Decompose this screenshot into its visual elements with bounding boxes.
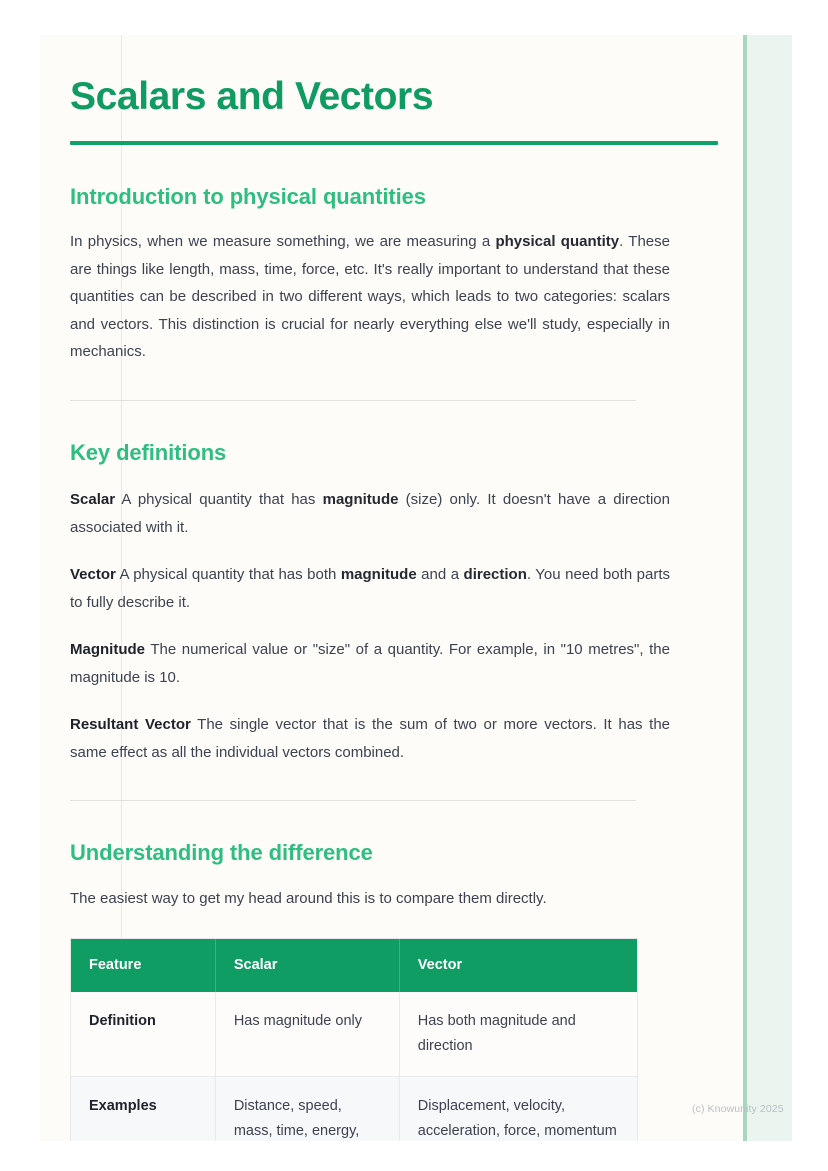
definition-text-1: A physical quantity that has both <box>116 566 341 583</box>
definition-term: Magnitude <box>70 641 145 658</box>
table-row: Examples Distance, speed, mass, time, en… <box>71 1077 637 1141</box>
definition-term: Vector <box>70 566 116 583</box>
side-panel <box>747 35 792 1141</box>
definition-item: Magnitude The numerical value or "size" … <box>70 616 670 691</box>
comparison-table-wrapper: Feature Scalar Vector Definition Has mag… <box>70 938 638 1141</box>
page-title: Scalars and Vectors <box>70 35 670 119</box>
page-root: Scalars and Vectors Introduction to phys… <box>0 0 828 1171</box>
table-row: Definition Has magnitude only Has both m… <box>71 992 637 1077</box>
intro-text-part-2: . These are things like length, mass, ti… <box>70 233 670 360</box>
column-header-vector: Vector <box>399 939 637 992</box>
definition-text-1: The numerical value or "size" of a quant… <box>70 641 670 686</box>
intro-bold-physical-quantity: physical quantity <box>495 233 619 250</box>
section-heading-introduction: Introduction to physical quantities <box>70 145 670 211</box>
definition-item: Resultant Vector The single vector that … <box>70 691 670 766</box>
definition-emphasis-1: magnitude <box>341 566 417 583</box>
definition-term: Scalar <box>70 491 115 508</box>
cell-scalar: Distance, speed, mass, time, energy, tem… <box>215 1077 399 1141</box>
comparison-table-body: Definition Has magnitude only Has both m… <box>71 992 637 1141</box>
cell-vector: Has both magnitude and direction <box>399 992 637 1077</box>
cell-vector: Displacement, velocity, acceleration, fo… <box>399 1077 637 1141</box>
cell-feature: Examples <box>71 1077 215 1141</box>
comparison-table-head: Feature Scalar Vector <box>71 939 637 992</box>
cell-scalar: Has magnitude only <box>215 992 399 1077</box>
column-header-feature: Feature <box>71 939 215 992</box>
section-heading-understanding-the-difference: Understanding the difference <box>70 801 670 867</box>
table-header-row: Feature Scalar Vector <box>71 939 637 992</box>
definition-emphasis-1: magnitude <box>323 491 399 508</box>
copyright-watermark: (c) Knowunity 2025 <box>692 1103 784 1115</box>
column-header-scalar: Scalar <box>215 939 399 992</box>
definition-item: Vector A physical quantity that has both… <box>70 541 670 616</box>
document-content: Scalars and Vectors Introduction to phys… <box>70 35 670 1141</box>
definition-text-1: A physical quantity that has <box>115 491 323 508</box>
understanding-intro-text: The easiest way to get my head around th… <box>70 867 670 913</box>
document-sheet: Scalars and Vectors Introduction to phys… <box>40 35 792 1141</box>
definition-emphasis-2: direction <box>464 566 527 583</box>
definition-text-2: and a <box>417 566 464 583</box>
comparison-table: Feature Scalar Vector Definition Has mag… <box>71 939 637 1141</box>
definition-term: Resultant Vector <box>70 716 191 733</box>
cell-feature: Definition <box>71 992 215 1077</box>
section-heading-key-definitions: Key definitions <box>70 401 670 467</box>
intro-text-part-1: In physics, when we measure something, w… <box>70 233 495 250</box>
intro-paragraph: In physics, when we measure something, w… <box>70 210 670 366</box>
definition-item: Scalar A physical quantity that has magn… <box>70 466 670 541</box>
